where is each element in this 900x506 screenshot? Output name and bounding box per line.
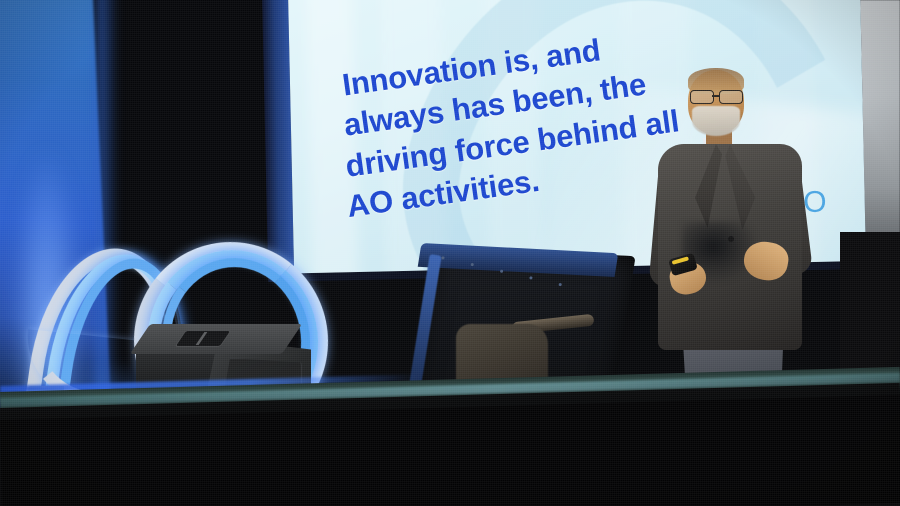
- glasses-icon: [689, 90, 743, 103]
- stage-scene: Innovation is, and always has been, the …: [0, 0, 900, 506]
- presenter-beard: [692, 106, 740, 136]
